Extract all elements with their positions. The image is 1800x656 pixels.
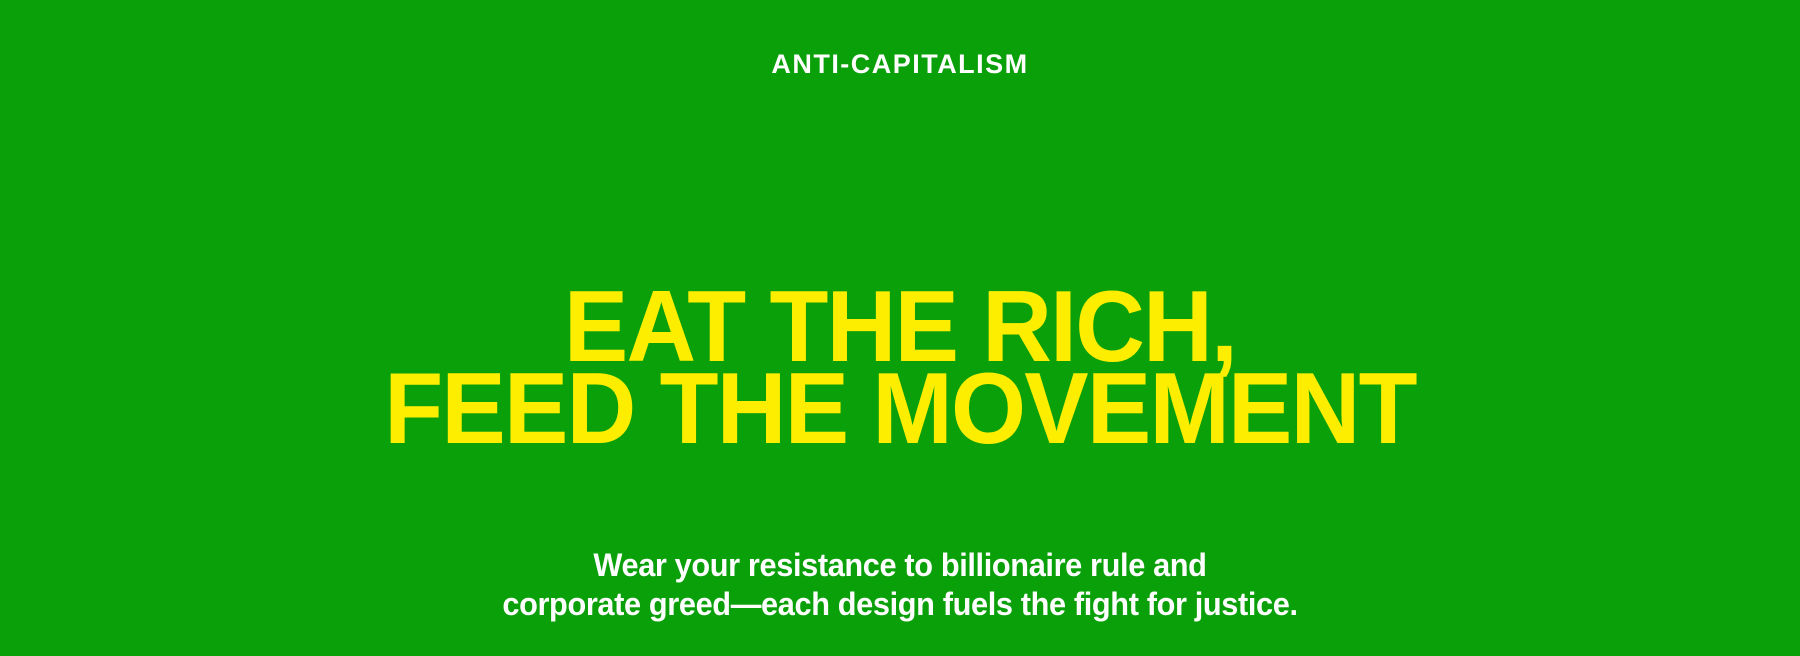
hero-headline-line-2: FEED THE MOVEMENT [41, 368, 1760, 450]
hero-subhead-line-2: corporate greed—each design fuels the fi… [36, 585, 1764, 624]
hero-subhead: Wear your resistance to billionaire rule… [36, 546, 1764, 624]
hero-subhead-line-1: Wear your resistance to billionaire rule… [36, 546, 1764, 585]
hero-banner: ANTI-CAPITALISM EAT THE RICH, FEED THE M… [0, 0, 1800, 656]
hero-eyebrow: ANTI-CAPITALISM [0, 50, 1800, 80]
hero-headline: EAT THE RICH, FEED THE MOVEMENT [41, 286, 1760, 451]
